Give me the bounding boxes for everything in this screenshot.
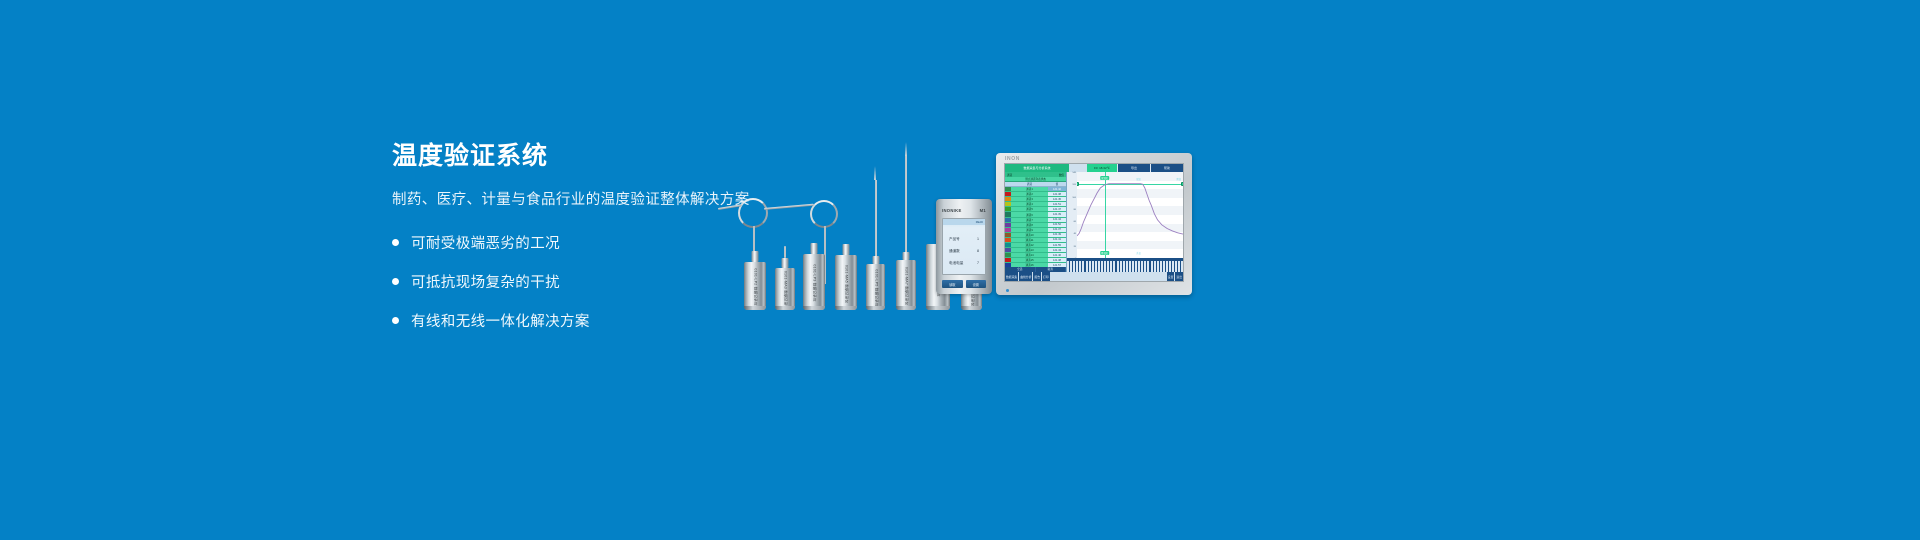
list-item: 有线和无线一体化解决方案 xyxy=(392,308,812,334)
list-item: 产品号 1 xyxy=(947,237,981,242)
logger-label: 0101-MA5 数据记录仪 xyxy=(844,264,849,302)
channel-value: 121.49 xyxy=(1048,233,1066,237)
scrollbar-tick xyxy=(1178,261,1180,272)
software-toolbar: 数据采集曲线分析报告打印设置退出 xyxy=(1005,272,1183,281)
table-header-left: 通道 xyxy=(1007,173,1012,177)
scrollbar-tick xyxy=(1082,261,1084,272)
scrollbar-tick xyxy=(1117,261,1119,272)
scrollbar-tick xyxy=(1163,261,1165,272)
scrollbar-tick xyxy=(1172,261,1174,272)
scrollbar-tick xyxy=(1166,261,1168,272)
channel-value: 121.37 xyxy=(1048,228,1066,232)
scrollbar-tick xyxy=(1181,261,1183,272)
channel-value: 121.46 xyxy=(1048,253,1066,257)
handheld-brand: INONIKE xyxy=(942,208,962,213)
channel-value: 121.47 xyxy=(1048,207,1066,211)
scrollbar-tick xyxy=(1070,261,1072,272)
monitor-brand: INON xyxy=(1005,156,1020,162)
feature-label: 有线和无线一体化解决方案 xyxy=(411,310,590,331)
channel-name: 通道2 xyxy=(1011,192,1048,196)
toolbar-button[interactable]: 打印 xyxy=(1042,272,1050,281)
scrollbar-tick xyxy=(1147,261,1149,272)
y-axis-tick: 120 xyxy=(1072,184,1076,186)
software-body: 通道 数值 测点通道列表状态 通道 值 通道1121.42通道2121.38通道… xyxy=(1005,172,1183,272)
list-item: 0101-LP5 数据记录仪 xyxy=(866,264,885,310)
y-axis-tick: 40 xyxy=(1074,233,1076,235)
channel-value: 121.38 xyxy=(1048,192,1066,196)
y-axis-tick: 60 xyxy=(1074,221,1076,223)
logger-stem xyxy=(784,246,786,258)
list-item: 0101-MA3 数据记录仪 xyxy=(775,268,795,310)
table-header-right: 数值 xyxy=(1059,173,1064,177)
scrollbar-tick xyxy=(1095,261,1097,272)
channel-value: 121.45 xyxy=(1048,197,1066,201)
chart-y-axis: 020406080100120140 xyxy=(1067,172,1077,258)
bullet-dot-icon xyxy=(392,317,399,324)
handheld-screen: READ 产品号 1 通道数 8 电池电量 7 xyxy=(942,218,986,275)
toolbar-spacer xyxy=(1051,272,1166,281)
logger-neck xyxy=(903,252,910,260)
list-item: 通道数 8 xyxy=(947,249,981,254)
scrollbar-tick xyxy=(1110,261,1112,272)
logger-label: 0101-LP2 数据记录仪 xyxy=(753,268,758,305)
scrollbar-tick xyxy=(1144,261,1146,272)
needle-probe-icon xyxy=(875,180,877,264)
scrollbar-tick xyxy=(1104,261,1106,272)
list-item: 电池电量 7 xyxy=(947,261,981,266)
bullet-dot-icon xyxy=(392,278,399,285)
bullet-dot-icon xyxy=(392,239,399,246)
col-value: 值 xyxy=(1048,182,1066,186)
scrollbar-tick xyxy=(1089,261,1091,272)
handheld-brand-row: INONIKE M1 xyxy=(936,208,992,213)
monitor-screen: 数据采集与分析系统 F0: 18.32℃ 导出 帮助 通道 数值 测点通道列表状… xyxy=(1004,163,1184,282)
scrollbar-tick xyxy=(1101,261,1103,272)
y-axis-tick: 20 xyxy=(1074,246,1076,248)
scrollbar-tick xyxy=(1120,261,1122,272)
temperature-curve xyxy=(1077,172,1183,258)
readout-label: 通道数 xyxy=(949,249,960,254)
channel-value: 121.51 xyxy=(1048,202,1066,206)
chart-x-scrollbar[interactable] xyxy=(1067,258,1183,272)
list-item: 0101-LP2 数据记录仪 xyxy=(744,262,766,310)
validation-monitor: INON 数据采集与分析系统 F0: 18.32℃ 导出 帮助 通道 数值 测点… xyxy=(996,153,1192,295)
scrollbar-tick xyxy=(1113,261,1115,272)
channel-name: 通道1 xyxy=(1011,187,1048,191)
scrollbar-tick xyxy=(1073,261,1075,272)
table-body: 通道1121.42通道2121.38通道3121.45通道4121.51通道51… xyxy=(1005,187,1066,267)
logger-label: 0101-MA3 数据记录仪 xyxy=(783,271,788,309)
export-button[interactable]: 导出 xyxy=(1118,164,1150,172)
toolbar-button[interactable]: 设置 xyxy=(1167,272,1175,281)
handheld-keypad: 读取 设置 xyxy=(942,280,986,288)
scrollbar-tick xyxy=(1129,261,1131,272)
list-item: 0101-MA5 数据记录仪 xyxy=(835,255,857,310)
logger-label: 0101-MA7 数据记录仪 xyxy=(904,267,909,305)
channel-name: 通道12 xyxy=(1011,243,1048,247)
toolbar-button[interactable]: 报告 xyxy=(1033,272,1041,281)
scrollbar-tick xyxy=(1107,261,1109,272)
channel-name: 通道7 xyxy=(1011,218,1048,222)
logger-neck xyxy=(872,256,879,264)
y-axis-tick: 140 xyxy=(1072,172,1076,174)
scrollbar-tick xyxy=(1086,261,1088,272)
coil-sensor-icon xyxy=(810,200,838,228)
readout-label: 产品号 xyxy=(949,237,960,242)
power-led-icon xyxy=(1006,289,1009,292)
scrollbar-tick xyxy=(1098,261,1100,272)
channel-value: 121.41 xyxy=(1048,238,1066,242)
scrollbar-tick xyxy=(1169,261,1171,272)
scrollbar-tick xyxy=(1067,261,1069,272)
needle-probe-icon xyxy=(905,156,907,260)
channel-value: 121.55 xyxy=(1048,243,1066,247)
help-button[interactable]: 帮助 xyxy=(1151,164,1183,172)
chart-main: 020406080100120140 保温段 降温段 保温 降温 升温 xyxy=(1067,172,1183,258)
channel-value: 121.43 xyxy=(1048,248,1066,252)
coil-sensor-icon xyxy=(738,198,768,228)
readout-value: 7 xyxy=(977,261,979,266)
channel-name: 通道15 xyxy=(1011,258,1048,262)
readout-value: 8 xyxy=(977,249,979,254)
software-title: 数据采集与分析系统 xyxy=(1005,164,1069,172)
toolbar-button[interactable]: 曲线分析 xyxy=(1019,272,1032,281)
handheld-key-setup[interactable]: 设置 xyxy=(966,280,987,288)
logger-body: 0101-LP3 数据记录仪 xyxy=(803,254,825,310)
scrollbar-tick xyxy=(1151,261,1153,272)
logger-body: 0101-MA3 数据记录仪 xyxy=(775,268,795,310)
scrollbar-tick xyxy=(1123,261,1125,272)
channel-name: 通道9 xyxy=(1011,228,1048,232)
handheld-key-read[interactable]: 读取 xyxy=(942,280,963,288)
channel-value: 121.42 xyxy=(1048,187,1066,191)
channel-name: 通道3 xyxy=(1011,197,1048,201)
scrollbar-tick xyxy=(1076,261,1078,272)
scrollbar-tick xyxy=(1141,261,1143,272)
logger-label: 0101-LP3 数据记录仪 xyxy=(812,264,817,301)
handheld-reader[interactable]: INONIKE M1 READ 产品号 1 通道数 8 电池电量 7 xyxy=(936,199,992,294)
scrollbar-tick xyxy=(1154,261,1156,272)
channel-name: 通道11 xyxy=(1011,238,1048,242)
y-axis-tick: 80 xyxy=(1074,209,1076,211)
logger-body: 0101-MA7 数据记录仪 xyxy=(896,260,916,310)
logger-body: 0101-MA5 数据记录仪 xyxy=(835,255,857,310)
channel-value: 121.44 xyxy=(1048,218,1066,222)
scrollbar-tick xyxy=(1157,261,1159,272)
feature-label: 可抵抗现场复杂的干扰 xyxy=(411,271,560,292)
header-spacer xyxy=(1069,164,1087,172)
channel-name: 通道13 xyxy=(1011,248,1048,252)
toolbar-button[interactable]: 退出 xyxy=(1175,272,1183,281)
logger-neck xyxy=(811,243,818,254)
channel-name: 通道6 xyxy=(1011,213,1048,217)
status-badge: F0: 18.32℃ xyxy=(1087,164,1117,172)
toolbar-button[interactable]: 数据采集 xyxy=(1005,272,1018,281)
scrollbar-tick xyxy=(1160,261,1162,272)
sensor-cable xyxy=(764,204,814,210)
software-header: 数据采集与分析系统 F0: 18.32℃ 导出 帮助 xyxy=(1005,164,1183,172)
col-channel: 通道 xyxy=(1011,182,1048,186)
list-item: 0101-LP3 数据记录仪 xyxy=(803,254,825,310)
y-axis-tick: 100 xyxy=(1072,197,1076,199)
scrollbar-tick xyxy=(1079,261,1081,272)
scrollbar-tick xyxy=(1135,261,1137,272)
channel-name: 通道14 xyxy=(1011,253,1048,257)
feature-label: 可耐受极端恶劣的工况 xyxy=(411,232,560,253)
logger-neck xyxy=(752,251,759,262)
scrollbar-tick xyxy=(1126,261,1128,272)
channel-value: 121.39 xyxy=(1048,212,1066,216)
y-axis-tick: 0 xyxy=(1075,258,1076,260)
channel-value: 121.52 xyxy=(1048,223,1066,227)
hero-banner: 温度验证系统 制药、医疗、计量与食品行业的温度验证整体解决方案 可耐受极端恶劣的… xyxy=(0,0,1920,540)
logger-label: 0101-LP5 数据记录仪 xyxy=(873,269,878,306)
channel-table: 通道 数值 测点通道列表状态 通道 值 通道1121.42通道2121.38通道… xyxy=(1005,172,1067,272)
scrollbar-tick xyxy=(1132,261,1134,272)
scrollbar-tick xyxy=(1175,261,1177,272)
scrollbar-tick xyxy=(1138,261,1140,272)
channel-name: 通道8 xyxy=(1011,223,1048,227)
channel-name: 通道5 xyxy=(1011,207,1048,211)
channel-value: 121.38 xyxy=(1048,258,1066,262)
list-item: 0101-MA7 数据记录仪 xyxy=(896,260,916,310)
scrollbar-tick xyxy=(1092,261,1094,272)
logger-neck xyxy=(843,244,850,255)
chart-plot-area[interactable]: 保温段 降温段 保温 降温 升温 xyxy=(1077,172,1183,258)
logger-body: 0101-LP5 数据记录仪 xyxy=(866,264,885,310)
logger-body: 0101-LP2 数据记录仪 xyxy=(744,262,766,310)
chart-panel: 020406080100120140 保温段 降温段 保温 降温 升温 xyxy=(1067,172,1183,272)
readout-value: 1 xyxy=(977,237,979,242)
readout-label: 电池电量 xyxy=(949,261,963,266)
logger-neck xyxy=(782,258,789,268)
handheld-readout-list: 产品号 1 通道数 8 电池电量 7 xyxy=(943,225,985,266)
channel-name: 通道10 xyxy=(1011,233,1048,237)
handheld-model: M1 xyxy=(980,208,986,213)
channel-name: 通道4 xyxy=(1011,202,1048,206)
